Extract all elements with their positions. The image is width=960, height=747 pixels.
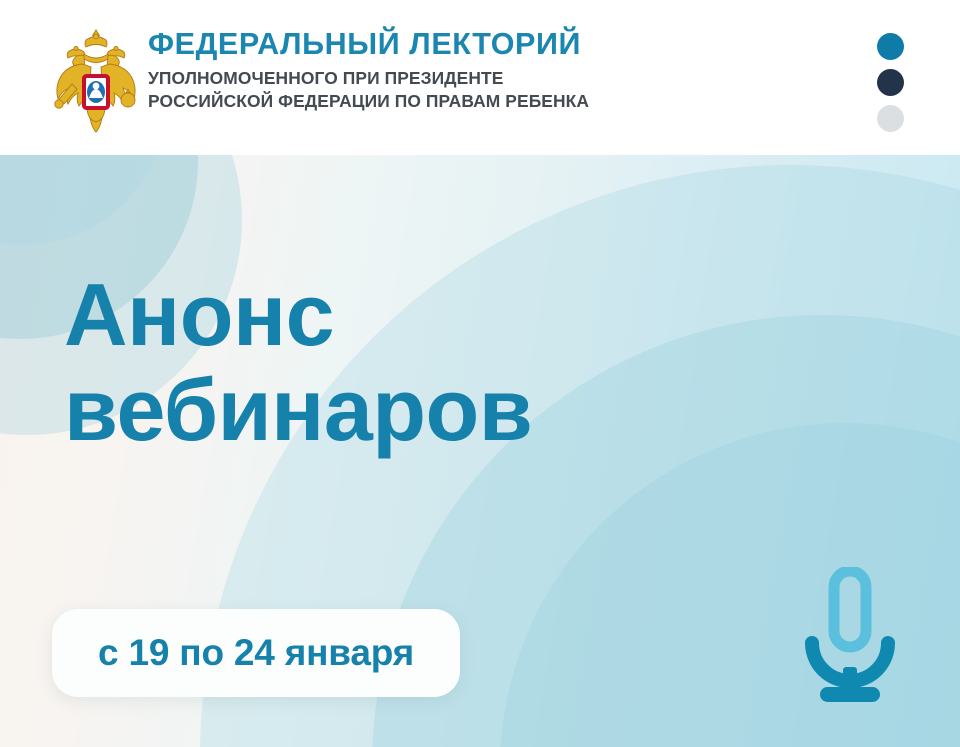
dot-navy: [877, 69, 904, 96]
date-range-label: с 19 по 24 января: [52, 632, 460, 674]
dot-teal: [877, 33, 904, 60]
date-range-badge: с 19 по 24 января: [52, 609, 460, 697]
site-header: ФЕДЕРАЛЬНЫЙ ЛЕКТОРИЙ УПОЛНОМОЧЕННОГО ПРИ…: [0, 0, 960, 155]
hero-section: Анонс вебинаров с 19 по 24 января: [0, 155, 960, 747]
hero-title: Анонс вебинаров: [64, 267, 532, 457]
russian-coat-of-arms-icon: [48, 26, 144, 138]
microphone-icon: [790, 567, 910, 709]
org-subtitle-line-2: РОССИЙСКОЙ ФЕДЕРАЦИИ ПО ПРАВАМ РЕБЕНКА: [148, 90, 768, 113]
header-text-block: ФЕДЕРАЛЬНЫЙ ЛЕКТОРИЙ УПОЛНОМОЧЕННОГО ПРИ…: [148, 28, 768, 113]
poster-canvas: ФЕДЕРАЛЬНЫЙ ЛЕКТОРИЙ УПОЛНОМОЧЕННОГО ПРИ…: [0, 0, 960, 747]
dot-gray: [877, 105, 904, 132]
decorative-circle-topleft-inner: [0, 155, 166, 245]
org-title: ФЕДЕРАЛЬНЫЙ ЛЕКТОРИЙ: [148, 28, 768, 60]
header-dots-group: [877, 33, 904, 132]
org-subtitle-line-1: УПОЛНОМОЧЕННОГО ПРИ ПРЕЗИДЕНТЕ: [148, 67, 768, 90]
